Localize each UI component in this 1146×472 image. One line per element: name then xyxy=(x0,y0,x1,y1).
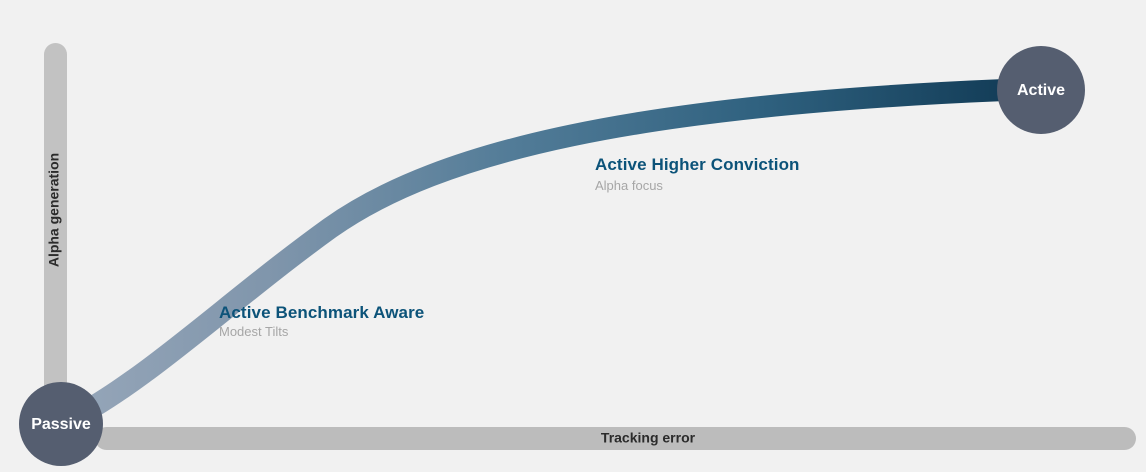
x-axis-label: Tracking error xyxy=(601,430,696,446)
y-axis-bar: Alpha generation xyxy=(44,43,67,425)
risk-return-spectrum-diagram: Alpha generation Tracking error Passive … xyxy=(0,0,1146,472)
node-passive[interactable]: Passive xyxy=(19,382,103,466)
x-axis-bar: Tracking error xyxy=(95,427,1136,450)
diagram-canvas: Alpha generation Tracking error Passive … xyxy=(0,0,1146,472)
stage-label-higher-conviction-title: Active Higher Conviction xyxy=(595,155,800,175)
stage-label-benchmark-aware-subtitle: Modest Tilts xyxy=(219,324,288,339)
progression-curve xyxy=(70,90,1005,420)
stage-label-higher-conviction-subtitle: Alpha focus xyxy=(595,178,663,193)
node-active[interactable]: Active xyxy=(997,46,1085,134)
active-node-label: Active xyxy=(1017,82,1065,99)
y-axis-label: Alpha generation xyxy=(46,153,62,267)
passive-node-label: Passive xyxy=(31,416,91,433)
stage-label-benchmark-aware-title: Active Benchmark Aware xyxy=(219,303,424,323)
